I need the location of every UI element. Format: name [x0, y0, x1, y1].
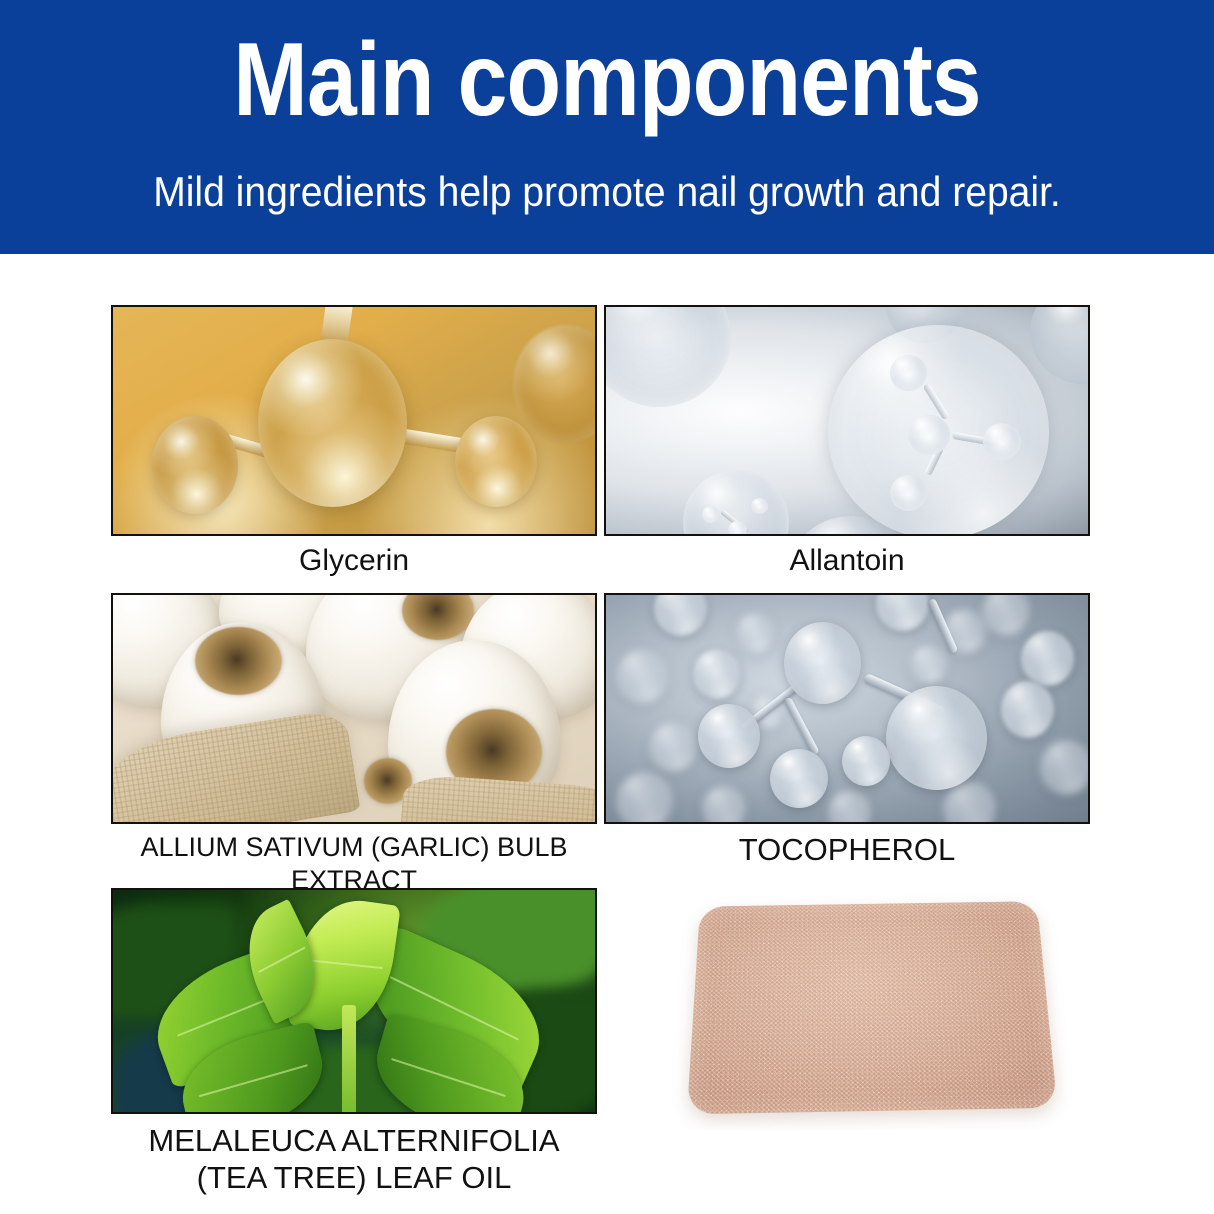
bubble [604, 305, 731, 407]
molecule-node [908, 415, 950, 456]
garlic-bulbs-photo [111, 593, 597, 824]
ingredient-caption: Glycerin [111, 544, 597, 578]
molecule-sphere [455, 416, 537, 507]
allantoin-bubbles-photo [604, 305, 1090, 536]
molecule-node [983, 423, 1021, 459]
bond-segment [783, 697, 820, 756]
silver-bubbles-artwork [606, 307, 1088, 534]
molecule-sphere [258, 339, 407, 507]
molecule-sphere [616, 649, 669, 703]
burlap-cloth [111, 708, 361, 824]
molecule-node [728, 521, 747, 536]
ingredient-caption: TOCOPHEROL [604, 831, 1090, 868]
tocopherol-molecule-photo [604, 593, 1090, 824]
main-components-infographic: Main components Mild ingredients help pr… [0, 0, 1214, 1214]
molecule-node [890, 475, 928, 511]
molecule-sphere [1040, 740, 1090, 794]
ingredient-card-allantoin: Allantoin [604, 305, 1090, 570]
molecule-node [890, 355, 928, 391]
burlap-cloth [400, 773, 597, 824]
bandage-pad-photo [660, 880, 1080, 1130]
molecule-sphere [649, 722, 697, 772]
molecule-sphere [842, 736, 890, 786]
stem [342, 1005, 356, 1114]
molecule-sphere [1001, 681, 1054, 738]
molecule-sphere [702, 786, 745, 824]
molecule-node [751, 498, 768, 515]
ingredient-caption: MELALEUCA ALTERNIFOLIA (TEA TREE) LEAF O… [111, 1122, 597, 1196]
molecule-sphere [910, 645, 949, 684]
ingredient-card-garlic: ALLIUM SATIVUM (GARLIC) BULB EXTRACT [111, 593, 597, 863]
tea-tree-leaves-artwork [113, 890, 595, 1112]
pad-texture [686, 901, 1056, 1114]
molecule-sphere [616, 772, 674, 824]
amber-molecule-artwork [113, 307, 595, 534]
page-subtitle: Mild ingredients help promote nail growt… [42, 168, 1171, 216]
ingredient-caption: Allantoin [604, 544, 1090, 578]
blue-molecule-artwork [606, 595, 1088, 822]
molecule-sphere [152, 416, 239, 514]
garlic-bulbs-artwork [113, 595, 595, 822]
ingredient-card-pad [660, 880, 1080, 1130]
molecule-sphere [982, 593, 1030, 636]
molecule-sphere [784, 622, 861, 704]
molecule-sphere [1021, 631, 1074, 685]
glycerin-molecule-photo [111, 305, 597, 536]
garlic-root-cluster [195, 627, 282, 695]
bubble [828, 325, 1050, 536]
header-banner: Main components Mild ingredients help pr… [0, 0, 1214, 254]
molecule-sphere [698, 704, 761, 768]
molecule-node [702, 506, 719, 523]
molecule-sphere [513, 325, 597, 443]
tea-tree-leaves-photo [111, 888, 597, 1114]
molecule-sphere [876, 593, 929, 631]
bandage-pad-artwork [660, 880, 1080, 1130]
bubble [1030, 305, 1090, 384]
molecule-sphere [693, 649, 741, 699]
molecule-sphere [770, 749, 828, 808]
adhesive-pad [686, 901, 1056, 1114]
molecule-sphere [886, 686, 987, 790]
ingredient-card-glycerin: Glycerin [111, 305, 597, 570]
ingredient-card-tocopherol: TOCOPHEROL [604, 593, 1090, 863]
molecule-sphere [654, 593, 707, 636]
page-title: Main components [85, 26, 1129, 134]
ingredient-card-tea-tree: MELALEUCA ALTERNIFOLIA (TEA TREE) LEAF O… [111, 888, 597, 1188]
bubble [683, 470, 789, 536]
molecule-sphere [736, 613, 775, 654]
molecule-sphere [828, 790, 871, 824]
